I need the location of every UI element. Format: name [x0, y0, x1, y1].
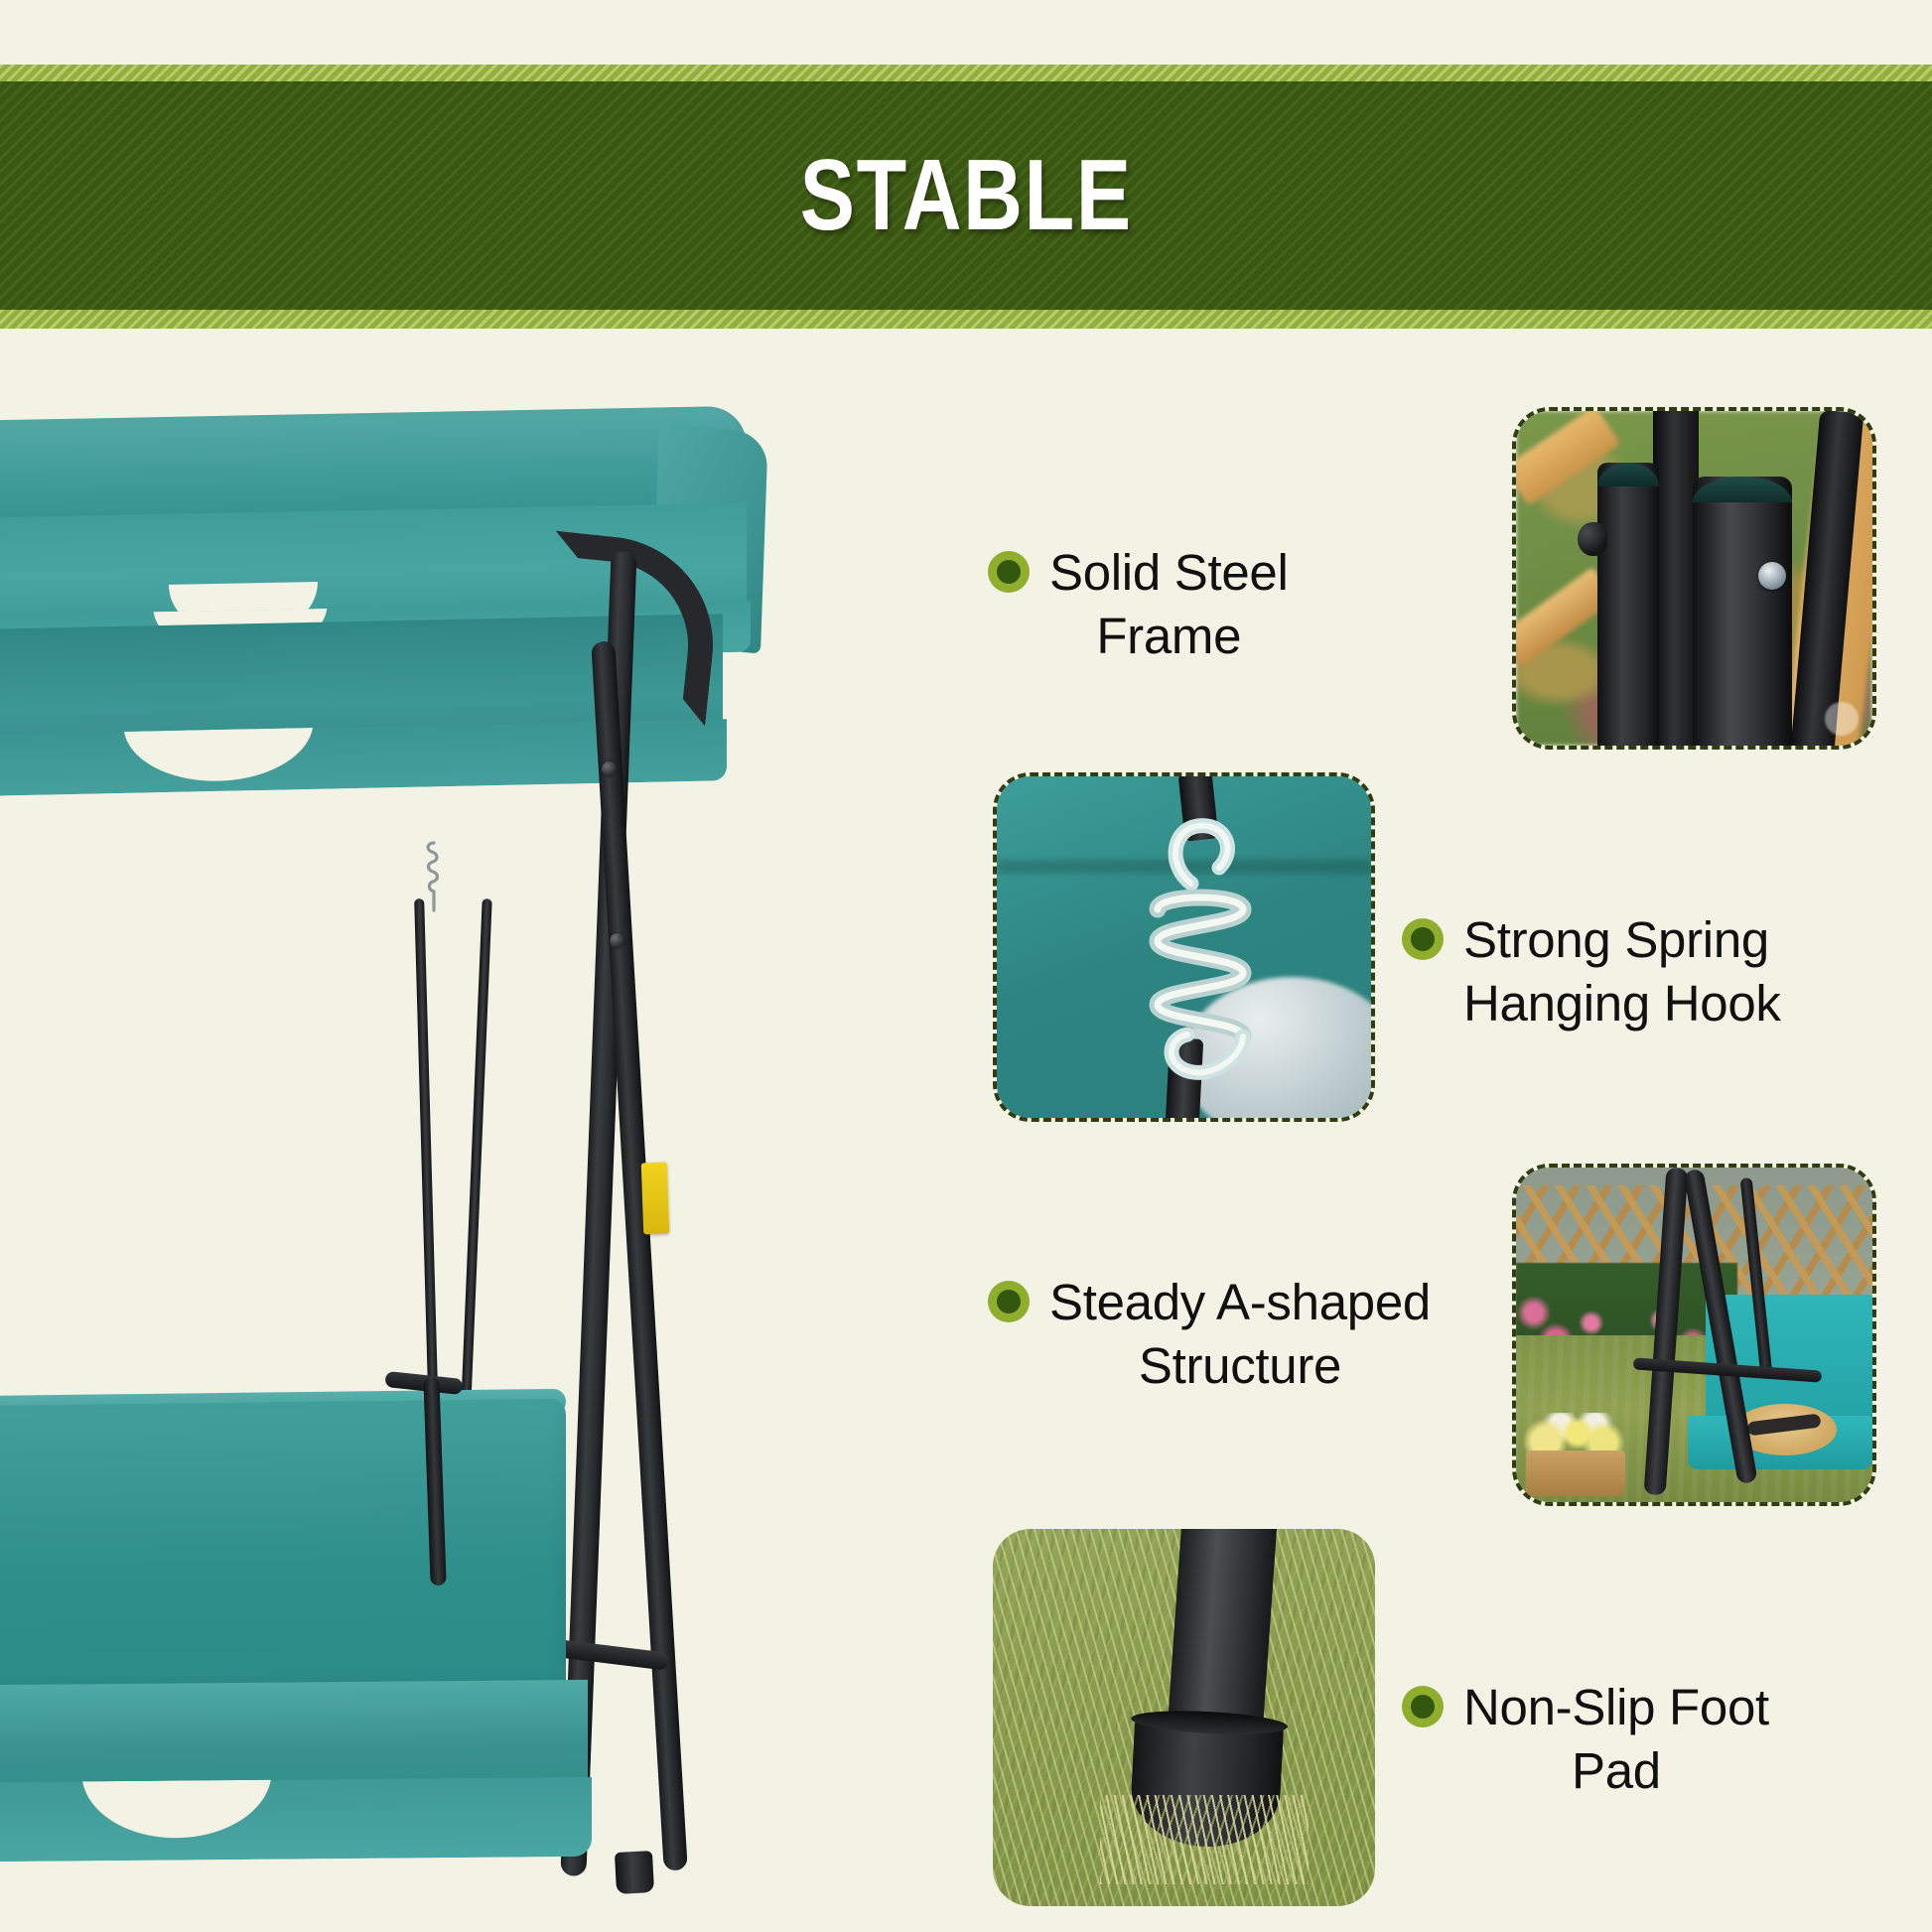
feature-label-line1: Strong Spring [1463, 911, 1769, 968]
feature-label-line2: Structure [1049, 1334, 1431, 1398]
grass-blades-overlay [1100, 1795, 1309, 1884]
bullet-icon [988, 551, 1030, 593]
hanging-rod-back [459, 898, 491, 1454]
header-banner: STABLE [0, 65, 1932, 329]
product-photo-swing-chair [0, 392, 894, 1932]
wicker-flower-basket [1526, 1450, 1625, 1496]
frame-foot-pad [615, 1851, 654, 1894]
feature-label-line2: Frame [1049, 605, 1289, 668]
inset-photo-a-frame-garden-view [1512, 1164, 1876, 1506]
feature-label: Non-Slip Foot Pad [1463, 1676, 1769, 1804]
feature-label-line1: Steady A-shaped [1049, 1274, 1431, 1330]
foot-pad-photo [993, 1529, 1375, 1906]
feature-item-solid-steel-frame: Solid Steel Frame [988, 541, 1405, 669]
bullet-icon [1402, 1686, 1444, 1727]
seat-scalloped-skirt [0, 1777, 592, 1863]
inset-photo-steel-frame-closeup [1512, 407, 1876, 750]
page-title: STABLE [800, 139, 1133, 253]
steel-tube-right [1693, 477, 1792, 750]
spring-hook-photo [997, 776, 1371, 1118]
frame-bolt-upper [602, 761, 617, 776]
feature-label-line1: Solid Steel [1049, 544, 1289, 601]
feature-label: Steady A-shaped Structure [1049, 1271, 1431, 1399]
seat-backrest-cushion [0, 1399, 566, 1705]
garden-scene-photo [1516, 1168, 1872, 1502]
chrome-spring-hook-icon [1116, 806, 1285, 1104]
feature-label: Strong Spring Hanging Hook [1463, 908, 1781, 1036]
feature-label-line1: Non-Slip Foot [1463, 1679, 1769, 1735]
watermark-dot [1825, 702, 1859, 736]
tube-knob [1578, 522, 1607, 556]
feature-label-line2: Hanging Hook [1463, 972, 1781, 1035]
bullet-icon [1402, 918, 1444, 960]
frame-bolt-lower [610, 933, 624, 948]
steel-tube-left [1597, 463, 1659, 750]
feature-item-strong-spring-hanging-hook: Strong Spring Hanging Hook [1402, 908, 1918, 1036]
feature-label: Solid Steel Frame [1049, 541, 1289, 669]
bullet-icon [988, 1281, 1030, 1322]
feature-item-non-slip-foot-pad: Non-Slip Foot Pad [1402, 1676, 1898, 1804]
spring-hook-icon [421, 841, 447, 912]
feature-item-steady-a-shaped-structure: Steady A-shaped Structure [988, 1271, 1454, 1399]
infographic-page: STABLE Solid Steel [0, 0, 1932, 1932]
inset-photo-spring-hook-closeup [993, 772, 1375, 1122]
steel-frame-photo [1516, 411, 1872, 746]
silver-bolt-icon [1758, 562, 1786, 590]
yellow-warning-sticker [641, 1163, 669, 1235]
inset-photo-foot-pad-on-grass [993, 1529, 1375, 1906]
feature-label-line2: Pad [1463, 1739, 1769, 1803]
